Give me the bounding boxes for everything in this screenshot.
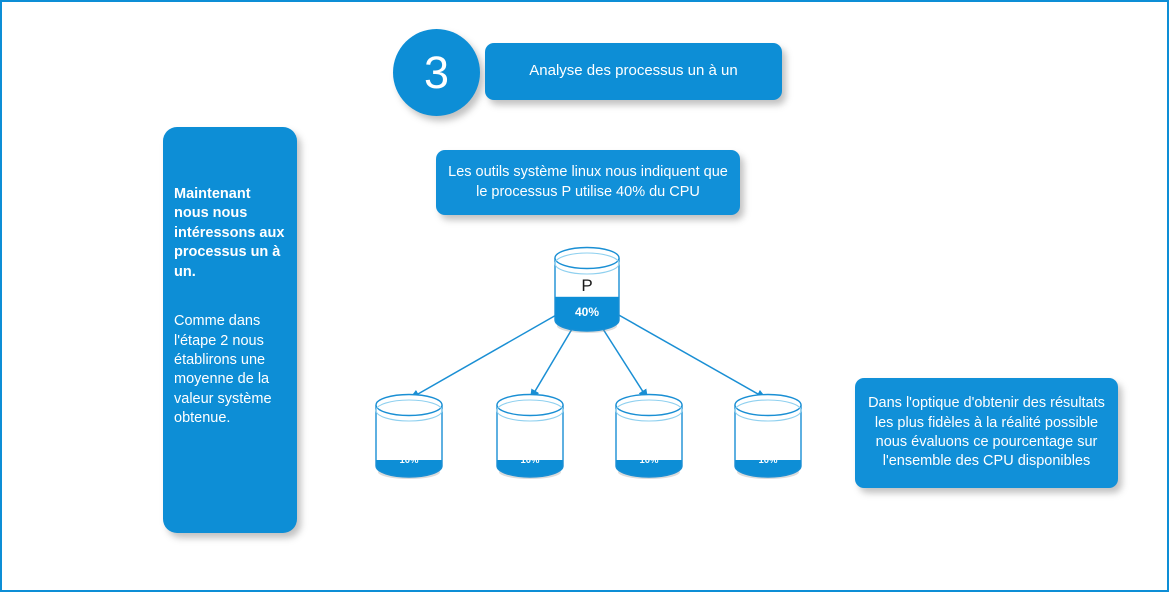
- cylinder-parent-percent: 40%: [554, 305, 620, 319]
- callout-top-cpu-usage: Les outils système linux nous indiquent …: [436, 150, 740, 215]
- arrow-to-cpu-2: [531, 329, 572, 398]
- cylinder-cpu-2-percent: 10%: [496, 455, 564, 466]
- cylinder-parent-label: P: [554, 276, 620, 296]
- cylinder-cpu-3: 10%: [615, 394, 683, 478]
- callout-right-cpu-scope: Dans l'optique d'obtenir des résultats l…: [855, 378, 1118, 488]
- arrow-to-cpu-1: [411, 314, 558, 398]
- sidebar-paragraph-regular: Comme dans l'étape 2 nous établirons une…: [174, 312, 287, 429]
- cylinder-cpu-1: 10%: [375, 394, 443, 478]
- callout-top-text: Les outils système linux nous indiquent …: [446, 163, 730, 202]
- step-number-badge: 3: [393, 29, 480, 116]
- cylinder-cpu-3-percent: 10%: [615, 455, 683, 466]
- sidebar-panel: Maintenant nous nous intéressons aux pro…: [163, 127, 297, 533]
- slide-canvas: 3 Analyse des processus un à un Maintena…: [0, 0, 1169, 592]
- step-number-label: 3: [424, 50, 449, 95]
- cylinder-cpu-4-percent: 10%: [734, 455, 802, 466]
- arrow-to-cpu-4: [617, 314, 765, 398]
- arrow-to-cpu-3: [603, 329, 647, 398]
- cylinder-cpu-4: 10%: [734, 394, 802, 478]
- cylinder-cpu-1-percent: 10%: [375, 455, 443, 466]
- sidebar-paragraph-bold: Maintenant nous nous intéressons aux pro…: [174, 185, 287, 282]
- slide-title-banner: Analyse des processus un à un: [485, 43, 782, 100]
- slide-title-text: Analyse des processus un à un: [517, 62, 749, 81]
- cylinder-process-parent: P 40%: [554, 247, 620, 331]
- cylinder-cpu-2: 10%: [496, 394, 564, 478]
- callout-right-text: Dans l'optique d'obtenir des résultats l…: [865, 394, 1108, 471]
